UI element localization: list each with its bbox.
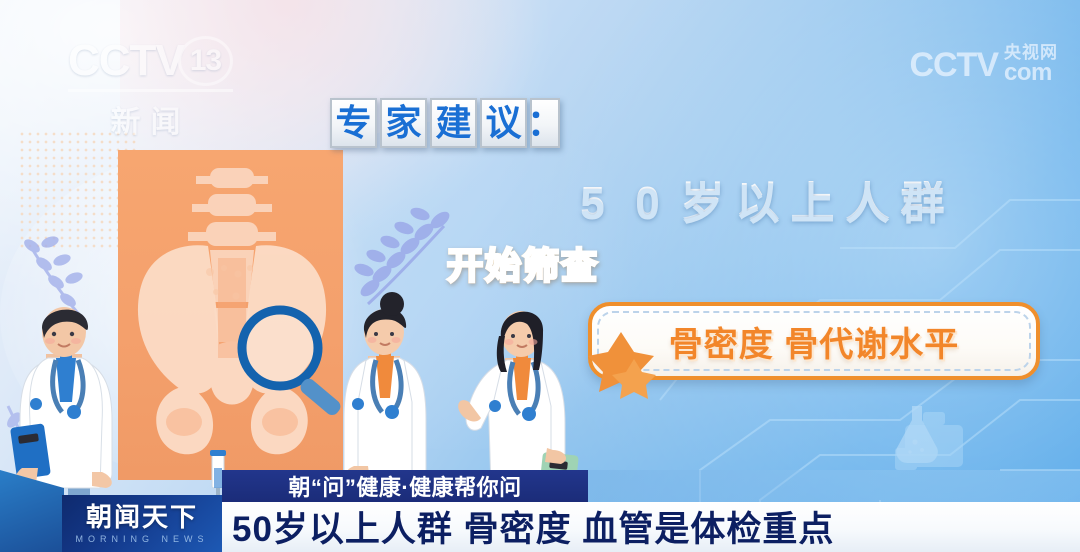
cctv13-subtitle: 新闻 [68, 97, 233, 141]
segment-title-banner: 朝“问”健康·健康帮你问 [222, 470, 588, 502]
cctv13-divider [68, 89, 233, 92]
program-logo-cn: 朝闻天下 [86, 504, 198, 530]
advice-char: 家 [380, 98, 427, 148]
age-group-heading: 5 0 岁 以 上 人 群 [566, 172, 949, 234]
age-group-char: 群 [896, 172, 949, 234]
lower-third-accent-strip [588, 470, 1080, 502]
headline-text: 50岁以上人群 骨密度 血管是体检重点 [232, 503, 834, 549]
lower-third: 朝“问”健康·健康帮你问 朝闻天下 MORNING NEWS 50岁以上人群 骨… [0, 470, 1080, 552]
cctv-watermark-domain: com [1004, 61, 1058, 85]
start-screening-label: 开始筛查 [447, 248, 599, 284]
cctv-watermark-text: CCTV [909, 48, 998, 82]
age-group-char: 0 [621, 172, 674, 234]
cctv13-channel-logo: CCTV 13 新闻 [68, 36, 233, 128]
metrics-label: 骨密度 骨代谢水平 [592, 306, 1036, 376]
cctv13-wordmark: CCTV 13 [68, 36, 233, 86]
program-logo-en: MORNING NEWS [76, 534, 209, 544]
cctv-text: CCTV [68, 39, 184, 83]
star-decoration-icon [612, 358, 656, 400]
cctv-com-watermark: CCTV 央视网 com [909, 44, 1058, 85]
broadcast-screenshot: CCTV 13 新闻 CCTV 央视网 com 专 家 建 议 ： 5 0 岁 … [0, 0, 1080, 552]
advice-char: 建 [430, 98, 477, 148]
expert-advice-heading: 专 家 建 议 ： [330, 98, 560, 148]
segment-title-text: 朝“问”健康·健康帮你问 [288, 470, 521, 502]
advice-char: 议 [480, 98, 527, 148]
age-group-char: 上 [786, 172, 839, 234]
age-group-char: 人 [841, 172, 894, 234]
program-logo: 朝闻天下 MORNING NEWS [62, 495, 222, 552]
advice-char: 专 [330, 98, 377, 148]
age-group-char: 5 [566, 172, 619, 234]
lower-third-left-wedge [0, 470, 64, 552]
cctv13-number: 13 [178, 36, 233, 86]
age-group-char: 以 [731, 172, 784, 234]
age-group-char: 岁 [676, 172, 729, 234]
advice-colon: ： [530, 98, 560, 148]
